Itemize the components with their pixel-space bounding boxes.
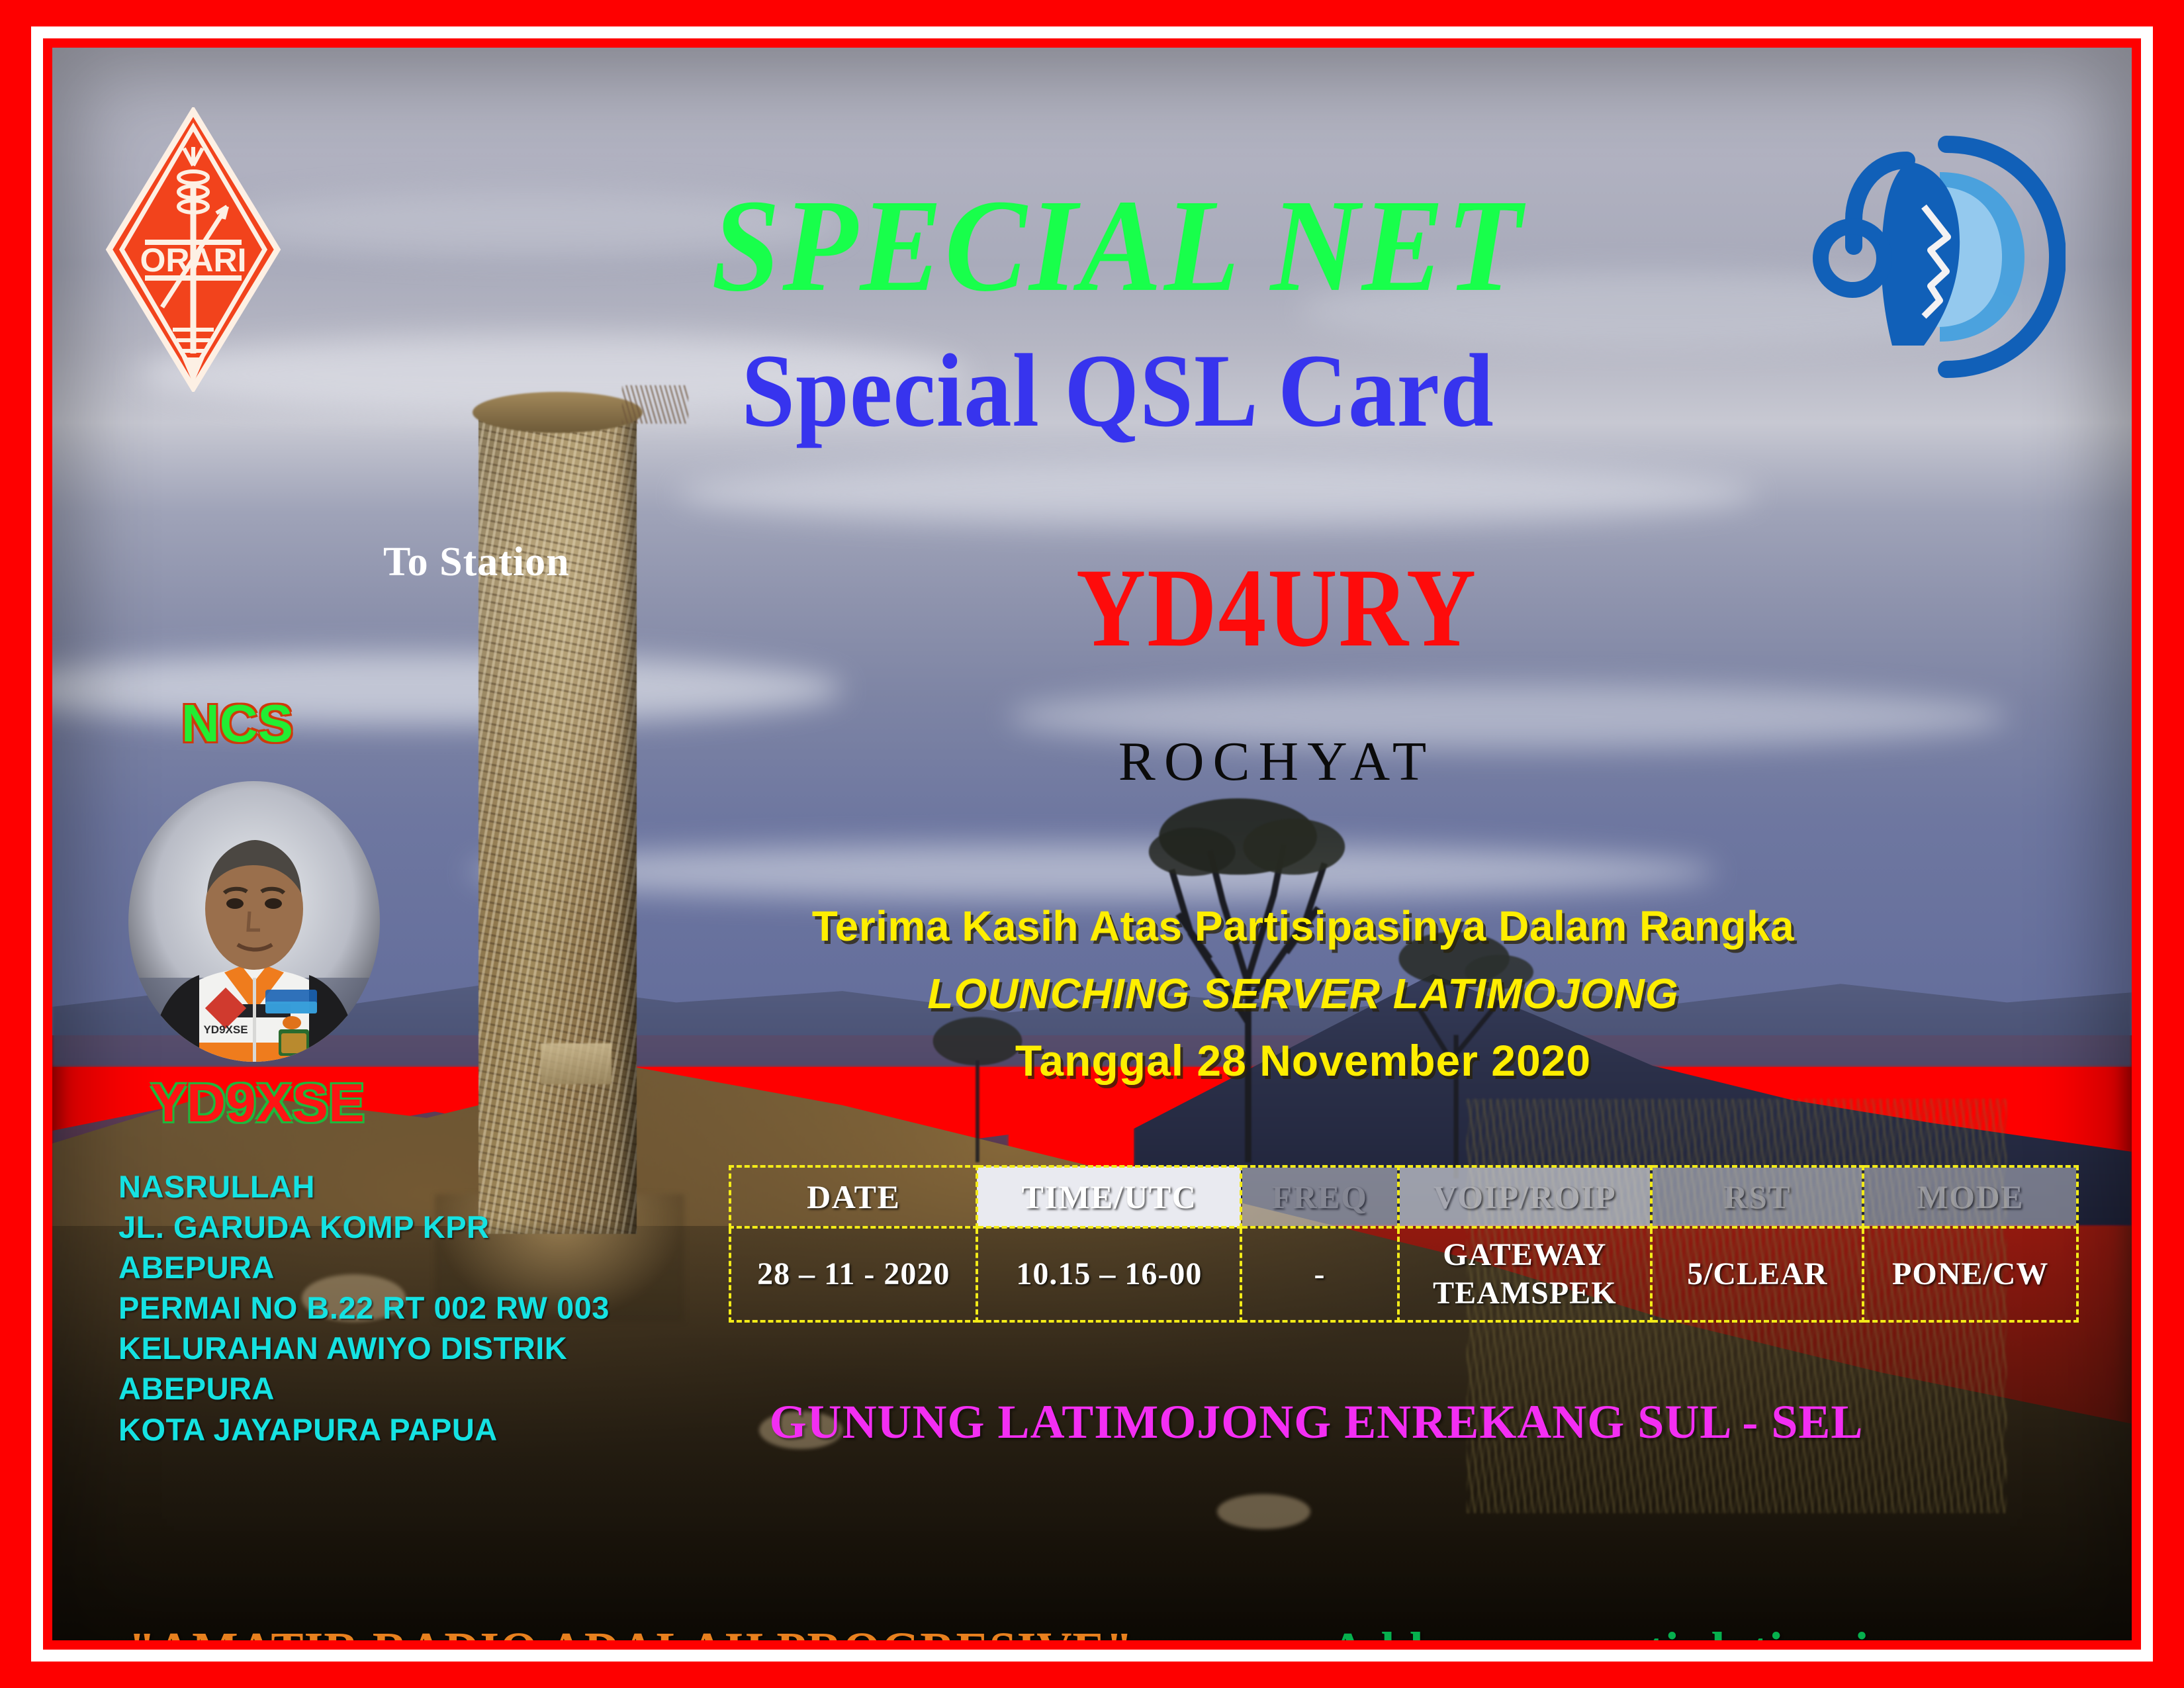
cell-freq: - <box>1241 1227 1398 1321</box>
ncs-callsign: YD9XSE <box>145 1072 370 1135</box>
cell-time: 10.15 – 16-00 <box>977 1227 1241 1321</box>
orari-logo-label: ORARI <box>140 242 246 279</box>
operator-name: ROCHYAT <box>813 729 1740 794</box>
cell-voip-roip-line1: GATEWAY <box>1400 1236 1650 1274</box>
column-header-rst: RST <box>1651 1166 1863 1227</box>
cell-mode: PONE/CW <box>1863 1227 2077 1321</box>
event-line: LOUNCHING SERVER LATIMOJONG <box>714 969 1892 1018</box>
card-photo-area: ORARI <box>52 48 2132 1640</box>
location-line: GUNUNG LATIMOJONG ENREKANG SUL - SEL <box>688 1395 1945 1450</box>
page-subtitle: Special QSL Card <box>539 339 1696 444</box>
column-header-voip-roip: VOIP/ROIP <box>1398 1166 1652 1227</box>
column-header-freq: FREQ <box>1241 1166 1398 1227</box>
address-line: PERMAI NO B.22 RT 002 RW 003 <box>118 1288 610 1328</box>
table-row: 28 – 11 - 2020 10.15 – 16-00 - GATEWAY T… <box>730 1227 2077 1321</box>
operator-photo: YD9XSE <box>125 779 383 1064</box>
photo-badge-label: YD9XSE <box>203 1023 248 1036</box>
address-line: NASRULLAH <box>118 1166 610 1207</box>
cell-voip-roip-line2: TEAMSPEK <box>1400 1274 1650 1313</box>
to-station-label: To Station <box>383 539 570 586</box>
cell-rst: 5/CLEAR <box>1651 1227 1863 1321</box>
ncs-address-block: NASRULLAH JL. GARUDA KOMP KPR ABEPURA PE… <box>118 1166 610 1450</box>
page-title: SPECIAL NET <box>533 180 1703 312</box>
ncs-label: NCS <box>181 693 293 754</box>
address-line: KELURAHAN AWIYO DISTRIK <box>118 1328 610 1368</box>
card-content: ORARI <box>52 48 2132 1640</box>
table-header-row: DATE TIME/UTC FREQ VOIP/ROIP RST MODE <box>730 1166 2077 1227</box>
cell-date: 28 – 11 - 2020 <box>730 1227 977 1321</box>
column-header-mode: MODE <box>1863 1166 2077 1227</box>
web-address-text[interactable]: Address : amatir.latimojong.com <box>1330 1622 2054 1640</box>
address-line: KOTA JAYAPURA PAPUA <box>118 1409 610 1450</box>
column-header-time: TIME/UTC <box>977 1166 1241 1227</box>
address-line: ABEPURA <box>118 1247 610 1288</box>
column-header-date: DATE <box>730 1166 977 1227</box>
radio-headset-logo-icon <box>1807 120 2066 392</box>
event-date-line: Tanggal 28 November 2020 <box>714 1035 1892 1086</box>
cell-voip-roip: GATEWAY TEAMSPEK <box>1398 1227 1652 1321</box>
thanks-line: Terima Kasih Atas Partisipasinya Dalam R… <box>714 902 1892 951</box>
station-callsign: YD4URY <box>832 551 1721 664</box>
qso-log-table: DATE TIME/UTC FREQ VOIP/ROIP RST MODE 28… <box>729 1165 2079 1323</box>
address-line: ABEPURA <box>118 1368 610 1409</box>
orari-logo-icon: ORARI <box>104 107 283 392</box>
motto-text: "AMATIR RADIO ADALAH PROGRESIVE" <box>128 1622 1133 1640</box>
qsl-card: ORARI <box>0 0 2184 1688</box>
address-line: JL. GARUDA KOMP KPR <box>118 1207 610 1247</box>
